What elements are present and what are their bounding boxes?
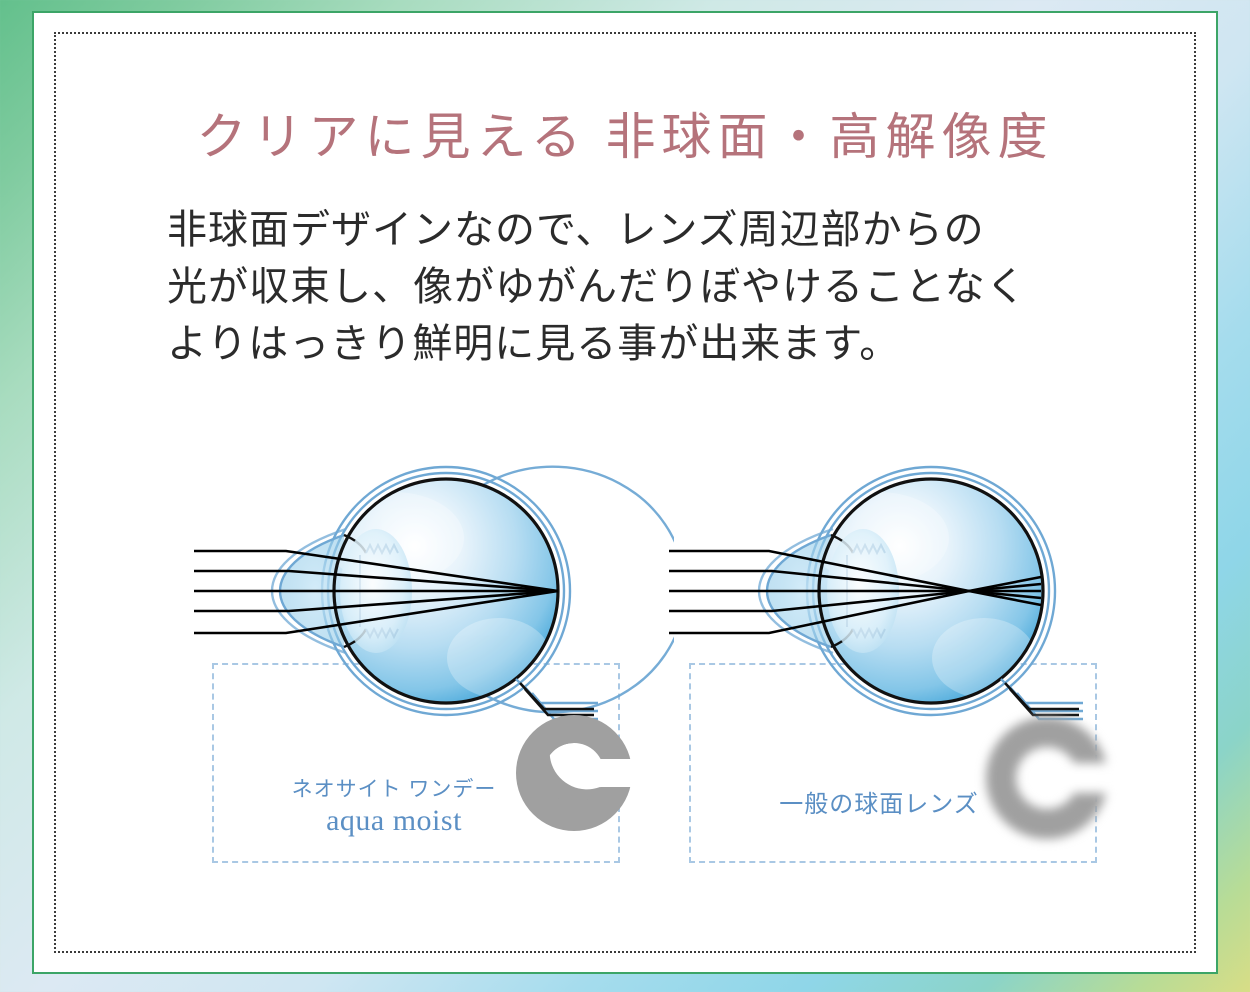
landolt-c-blurred-icon [972, 703, 1122, 858]
body-line-2: 光が収束し、像がゆがんだりぼやけることなく [167, 258, 1147, 315]
landolt-c-sharp-icon [504, 703, 644, 848]
eye-diagram-aspheric [194, 443, 674, 743]
page-title: クリアに見える 非球面・高解像度 [34, 97, 1216, 169]
body-line-3: よりはっきり鮮明に見る事が出来ます。 [167, 315, 1147, 372]
body-line-1: 非球面デザインなので、レンズ周辺部からの [167, 201, 1147, 258]
comparison-diagram: ネオサイト ワンデー aqua moist 一般の球面レンズ [34, 443, 1250, 913]
content-card: クリアに見える 非球面・高解像度 非球面デザインなので、レンズ周辺部からの 光が… [32, 11, 1218, 974]
eye-diagram-spherical [669, 443, 1149, 743]
body-copy: 非球面デザインなので、レンズ周辺部からの 光が収束し、像がゆがんだりぼやけること… [167, 201, 1147, 372]
